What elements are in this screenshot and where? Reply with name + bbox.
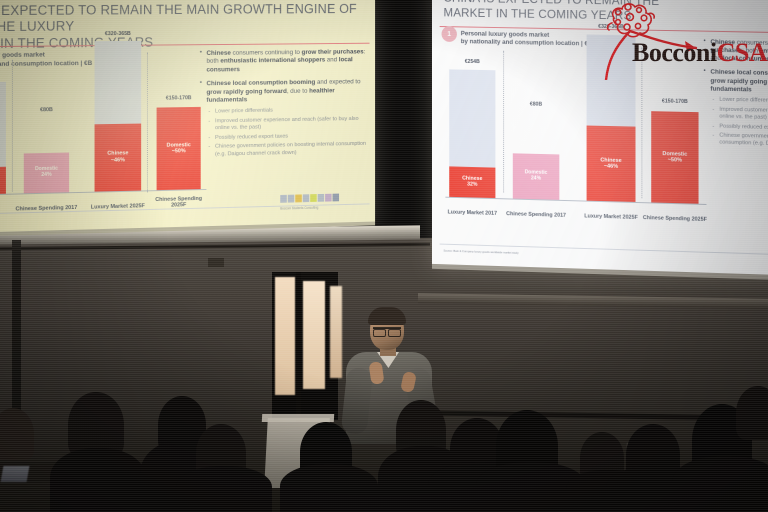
bar-segment-domestic-2017: Domestic 24% [24, 153, 69, 194]
glasses-icon [373, 327, 401, 333]
bullet-item: Chinese local consumption booming and ex… [206, 79, 367, 106]
wordmark-bocconi: Bocconi [632, 38, 717, 67]
wall-pillar [12, 240, 21, 420]
sub-bullet-item: Chinese government policies on boosting … [215, 141, 368, 158]
partner-logo-strip-left [280, 194, 339, 203]
chart-left: ket Domestic 24% €80B Chinese Spending 2… [0, 60, 199, 213]
bar-segment-domestic-2025: Domestic ~50% [157, 107, 201, 190]
sub-bullet-item: Improved customer experience and reach (… [719, 107, 768, 125]
bar-label-chinese-spending-2025f: Chinese Spending 2025F [641, 215, 708, 223]
sub-bullet-item: Improved customer experience and reach (… [215, 116, 368, 133]
projection-screen-left: S EXPECTED TO REMAIN THE MAIN GROWTH ENG… [0, 0, 375, 236]
slide-step-badge: 1 [442, 26, 457, 42]
audience-shoulders [280, 464, 378, 512]
bar-segment-sublabel: 24% [41, 173, 51, 179]
audience-shoulders [672, 456, 768, 512]
bocconi-csa-watermark: BocconiCSA [584, 0, 768, 80]
laptop-screen-glow [1, 466, 30, 482]
bar-segment-other [449, 69, 495, 167]
bar-segment-sublabel: ~50% [172, 148, 186, 155]
bar-label-luxury-market-2025f: Luxury Market 2025F [577, 214, 645, 223]
bar-chinese-spending-2025f: Domestic ~50% €150-170B Chinese Spending… [157, 107, 201, 190]
door-frame [296, 272, 301, 422]
bar-label-chinese-spending-2017: Chinese Spending 2017 [503, 211, 569, 219]
bullet-list-left: Chinese consumers continuing to grow the… [206, 49, 367, 161]
bar-value-luxury-market-2025f: €320-365B [95, 31, 142, 37]
bar-value-chinese-spending-2025f: €150-170B [651, 98, 698, 105]
door-light-panel-right [303, 281, 325, 389]
bar-segment-chinese-2025: Chinese ~46% [95, 123, 142, 191]
bar-value-luxury-market-2017: €254B [449, 59, 495, 66]
bar-label-luxury-market-2017: Luxury Market 2017 [440, 210, 505, 218]
bar-chinese-spending-2017: Domestic 24% €80B Chinese Spending 2017 [24, 153, 69, 194]
bar-chinese-spending-2025f: Domestic ~50% €150-170B Chinese Spending… [651, 111, 698, 204]
bar-value-chinese-spending-2025f: €150-170B [157, 95, 201, 102]
wordmark-csa: CSA [717, 38, 768, 67]
bar-segment-chinese [0, 167, 6, 195]
bar-value-chinese-spending-2017: €80B [513, 101, 560, 108]
bar-segment-chinese-2025: Chinese ~46% [587, 126, 636, 202]
door-light-panel-left [275, 277, 295, 395]
bullet-item: Chinese consumers continuing to grow the… [206, 49, 367, 75]
audience-shoulders [176, 466, 272, 512]
logo-caption-left: Bocconi Students Consulting [280, 206, 318, 211]
wall-vent [208, 258, 224, 267]
bar-segment-other-2025 [95, 41, 142, 124]
bar-segment-sublabel: ~50% [668, 157, 682, 164]
bar-segment-domestic-2017: Domestic 24% [513, 153, 560, 200]
slide-left: S EXPECTED TO REMAIN THE MAIN GROWTH ENG… [0, 0, 375, 232]
bar-value-chinese-spending-2017: €80B [24, 107, 69, 114]
bar-segment-sublabel: ~46% [604, 164, 618, 171]
lecture-hall-photo: S EXPECTED TO REMAIN THE MAIN GROWTH ENG… [0, 0, 768, 512]
bocconi-csa-wordmark: BocconiCSA [632, 38, 767, 68]
bar-segment-sublabel: ~46% [111, 157, 125, 164]
bar-luxury-market-2025f: Chinese ~46% €320-365B Luxury Market 202… [95, 41, 142, 192]
audience-head [736, 386, 768, 440]
audience-shoulders [50, 448, 146, 512]
bar-luxury-market-2017: ket [0, 82, 6, 195]
chart-separator-2 [147, 53, 148, 193]
chart-separator [12, 60, 13, 192]
bar-luxury-market-2017: Chinese 32% €254B Luxury Market 2017 [449, 69, 495, 198]
chart-separator [503, 51, 504, 193]
sub-bullet-item: Chinese government policies on boosting … [719, 133, 768, 151]
bar-segment-domestic-2025: Domestic ~50% [651, 111, 698, 204]
presenter-hair [368, 307, 406, 325]
bar-segment-chinese: Chinese 32% [449, 166, 495, 198]
bar-chinese-spending-2017: Domestic 24% €80B Chinese Spending 2017 [513, 153, 560, 200]
bar-segment-sublabel: 24% [531, 176, 541, 182]
slide-source-note: Source: Bain & Company luxury goods worl… [443, 249, 518, 255]
bar-segment-sublabel: 32% [467, 182, 477, 188]
bar-segment-other [0, 82, 6, 168]
sub-bullet-item: Lower price differentials [215, 106, 368, 115]
sub-bullet-item: Possibly reduced export taxes [215, 132, 368, 142]
